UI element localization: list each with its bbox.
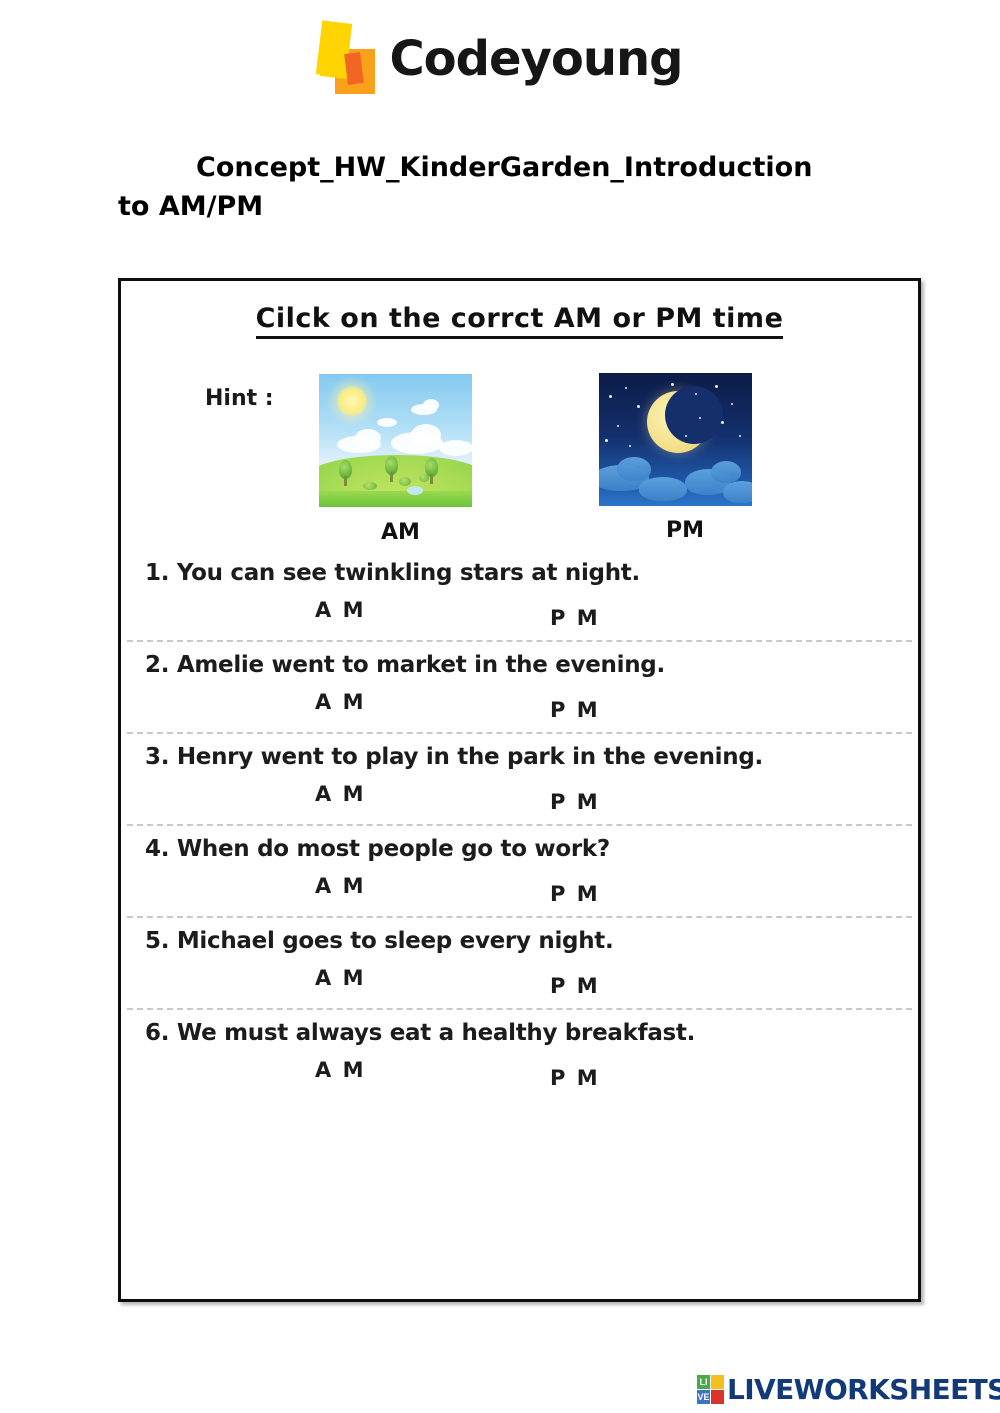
page-title-line-1: Concept_HW_KinderGarden_Introduction (118, 148, 918, 187)
worksheet-heading: Cilck on the corrct AM or PM time (121, 303, 918, 334)
am-hint-image (319, 374, 472, 507)
option-pm[interactable]: P M (550, 974, 600, 998)
moon-icon (647, 391, 709, 453)
question-text: 2. Amelie went to market in the evening. (145, 652, 918, 678)
option-pm[interactable]: P M (550, 1066, 600, 1090)
pm-hint-caption: PM (666, 518, 704, 543)
question-separator (127, 824, 912, 826)
question-list: 1. You can see twinkling stars at night.… (121, 560, 918, 1098)
codeyoung-logo-icon (317, 22, 375, 96)
question-text: 1. You can see twinkling stars at night. (145, 560, 918, 586)
question-item: 1. You can see twinkling stars at night.… (121, 560, 918, 638)
question-text: 4. When do most people go to work? (145, 836, 918, 862)
question-options: A M P M (145, 862, 918, 914)
worksheet-heading-text: Cilck on the corrct AM or PM time (256, 303, 784, 339)
liveworksheets-tiles-icon: LI VE (697, 1375, 724, 1404)
option-pm[interactable]: P M (550, 790, 600, 814)
question-separator (127, 732, 912, 734)
option-am[interactable]: A M (315, 874, 365, 898)
question-text: 5. Michael goes to sleep every night. (145, 928, 918, 954)
question-options: A M P M (145, 770, 918, 822)
option-am[interactable]: A M (315, 598, 365, 622)
option-am[interactable]: A M (315, 690, 365, 714)
question-item: 3. Henry went to play in the park in the… (121, 744, 918, 822)
question-item: 6. We must always eat a healthy breakfas… (121, 1020, 918, 1098)
question-item: 2. Amelie went to market in the evening.… (121, 652, 918, 730)
question-separator (127, 916, 912, 918)
option-am[interactable]: A M (315, 782, 365, 806)
question-text: 3. Henry went to play in the park in the… (145, 744, 918, 770)
question-text: 6. We must always eat a healthy breakfas… (145, 1020, 918, 1046)
question-separator (127, 640, 912, 642)
am-hint-caption: AM (381, 520, 420, 545)
question-item: 5. Michael goes to sleep every night. A … (121, 928, 918, 1006)
tile-ve: VE (697, 1390, 710, 1404)
hint-label: Hint : (205, 386, 274, 411)
liveworksheets-wordmark: LIVEWORKSHEETS (727, 1373, 1000, 1406)
option-pm[interactable]: P M (550, 882, 600, 906)
tile-yellow (711, 1375, 724, 1389)
tile-li: LI (697, 1375, 710, 1389)
option-pm[interactable]: P M (550, 698, 600, 722)
question-item: 4. When do most people go to work? A M P… (121, 836, 918, 914)
option-am[interactable]: A M (315, 966, 365, 990)
pm-hint-image (599, 373, 752, 506)
liveworksheets-logo[interactable]: LI VE LIVEWORKSHEETS (697, 1373, 1000, 1406)
hint-row: Hint : (121, 358, 918, 558)
question-options: A M P M (145, 586, 918, 638)
tile-red (711, 1390, 724, 1404)
option-pm[interactable]: P M (550, 606, 600, 630)
question-options: A M P M (145, 678, 918, 730)
question-options: A M P M (145, 1046, 918, 1098)
question-separator (127, 1008, 912, 1010)
question-options: A M P M (145, 954, 918, 1006)
sun-icon (337, 386, 367, 416)
page-title-line-2: to AM/PM (118, 187, 918, 226)
page-title: Concept_HW_KinderGarden_Introduction to … (118, 148, 918, 226)
worksheet-frame: Cilck on the corrct AM or PM time Hint : (118, 278, 921, 1302)
brand-header: Codeyoung (0, 22, 1000, 96)
brand-name: Codeyoung (389, 31, 682, 87)
option-am[interactable]: A M (315, 1058, 365, 1082)
